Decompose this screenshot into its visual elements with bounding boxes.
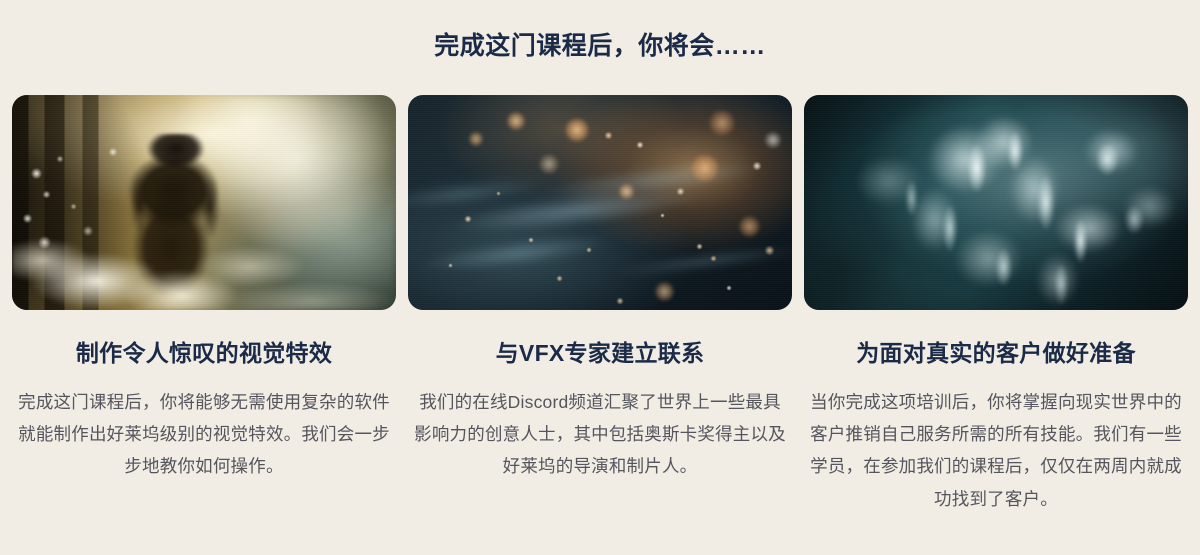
benefit-card: 与VFX专家建立联系 我们的在线Discord频道汇聚了世界上一些最具影响力的创… bbox=[408, 95, 792, 483]
benefit-card-title: 为面对真实的客户做好准备 bbox=[856, 340, 1136, 368]
benefit-card-description: 当你完成这项培训后，你将掌握向现实世界中的客户推销自己服务所需的所有技能。我们有… bbox=[810, 386, 1182, 516]
image-vignette-layer bbox=[804, 95, 1188, 310]
benefit-card: 制作令人惊叹的视觉特效 完成这门课程后，你将能够无需使用复杂的软件就能制作出好莱… bbox=[12, 95, 396, 483]
benefit-card: 为面对真实的客户做好准备 当你完成这项培训后，你将掌握向现实世界中的客户推销自己… bbox=[804, 95, 1188, 515]
benefit-card-description: 我们的在线Discord频道汇聚了世界上一些最具影响力的创意人士，其中包括奥斯卡… bbox=[414, 386, 786, 483]
teal-smoke-swirls-image bbox=[804, 95, 1188, 310]
nebula-with-orange-particles-image bbox=[408, 95, 792, 310]
benefit-cards-row: 制作令人惊叹的视觉特效 完成这门课程后，你将能够无需使用复杂的软件就能制作出好莱… bbox=[12, 95, 1188, 515]
benefit-card-description: 完成这门课程后，你将能够无需使用复杂的软件就能制作出好莱坞级别的视觉特效。我们会… bbox=[18, 386, 390, 483]
section-title: 完成这门课程后，你将会…… bbox=[0, 0, 1200, 61]
benefits-section: 完成这门课程后，你将会…… 制作令人惊叹的视觉特效 完成这门课程后，你将能够无需… bbox=[0, 0, 1200, 555]
image-droplets-layer bbox=[12, 95, 396, 310]
warrior-running-through-water-image bbox=[12, 95, 396, 310]
benefit-card-title: 制作令人惊叹的视觉特效 bbox=[76, 340, 332, 368]
image-small-bokeh-layer bbox=[408, 95, 792, 310]
benefit-card-title: 与VFX专家建立联系 bbox=[496, 340, 705, 368]
